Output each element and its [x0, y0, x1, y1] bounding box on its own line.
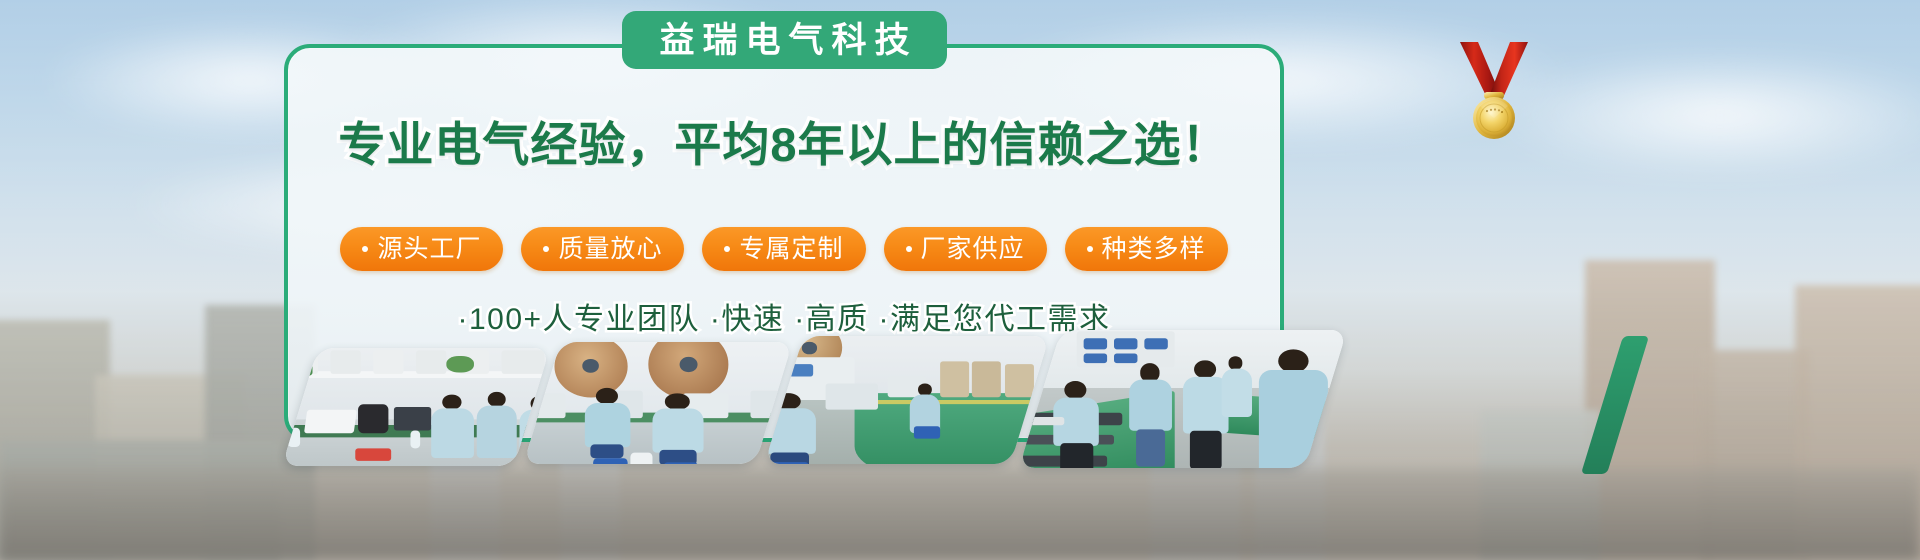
photo-thumbnail-1[interactable] — [282, 348, 550, 466]
factory-scene — [764, 336, 1049, 464]
photo-thumbnail-2[interactable] — [523, 342, 792, 464]
feature-pill-label: 源头工厂 — [377, 237, 481, 262]
feature-pill-4[interactable]: 厂家供应 — [884, 227, 1047, 271]
bullet-dot-icon — [1087, 246, 1093, 252]
feature-pill-group: 源头工厂 质量放心 专属定制 厂家供应 种类多样 — [284, 227, 1284, 271]
feature-pill-label: 专属定制 — [739, 237, 843, 262]
feature-pill-label: 厂家供应 — [921, 237, 1025, 262]
bullet-dot-icon — [543, 246, 549, 252]
photo-thumbnail-3[interactable] — [764, 336, 1049, 464]
bullet-dot-icon — [724, 246, 730, 252]
brand-title-tag: 益瑞电气科技 — [622, 11, 947, 69]
factory-scene — [523, 342, 792, 464]
feature-pill-label: 种类多样 — [1102, 237, 1206, 262]
factory-scene — [282, 348, 550, 466]
photo-thumbnail-4[interactable] — [1019, 330, 1347, 468]
photo-strip — [300, 330, 1620, 560]
feature-pill-2[interactable]: 质量放心 — [521, 227, 684, 271]
bullet-dot-icon — [906, 246, 912, 252]
factory-scene — [1019, 330, 1347, 468]
feature-pill-5[interactable]: 种类多样 — [1065, 227, 1228, 271]
brand-title-text: 益瑞电气科技 — [651, 23, 917, 58]
feature-pill-3[interactable]: 专属定制 — [702, 227, 865, 271]
feature-pill-label: 质量放心 — [558, 237, 662, 262]
gold-medal-icon — [1458, 42, 1530, 140]
feature-pill-1[interactable]: 源头工厂 — [340, 227, 503, 271]
bullet-dot-icon — [362, 246, 368, 252]
headline-text: 专业电气经验，平均8年以上的信赖之选！ — [284, 106, 1284, 175]
